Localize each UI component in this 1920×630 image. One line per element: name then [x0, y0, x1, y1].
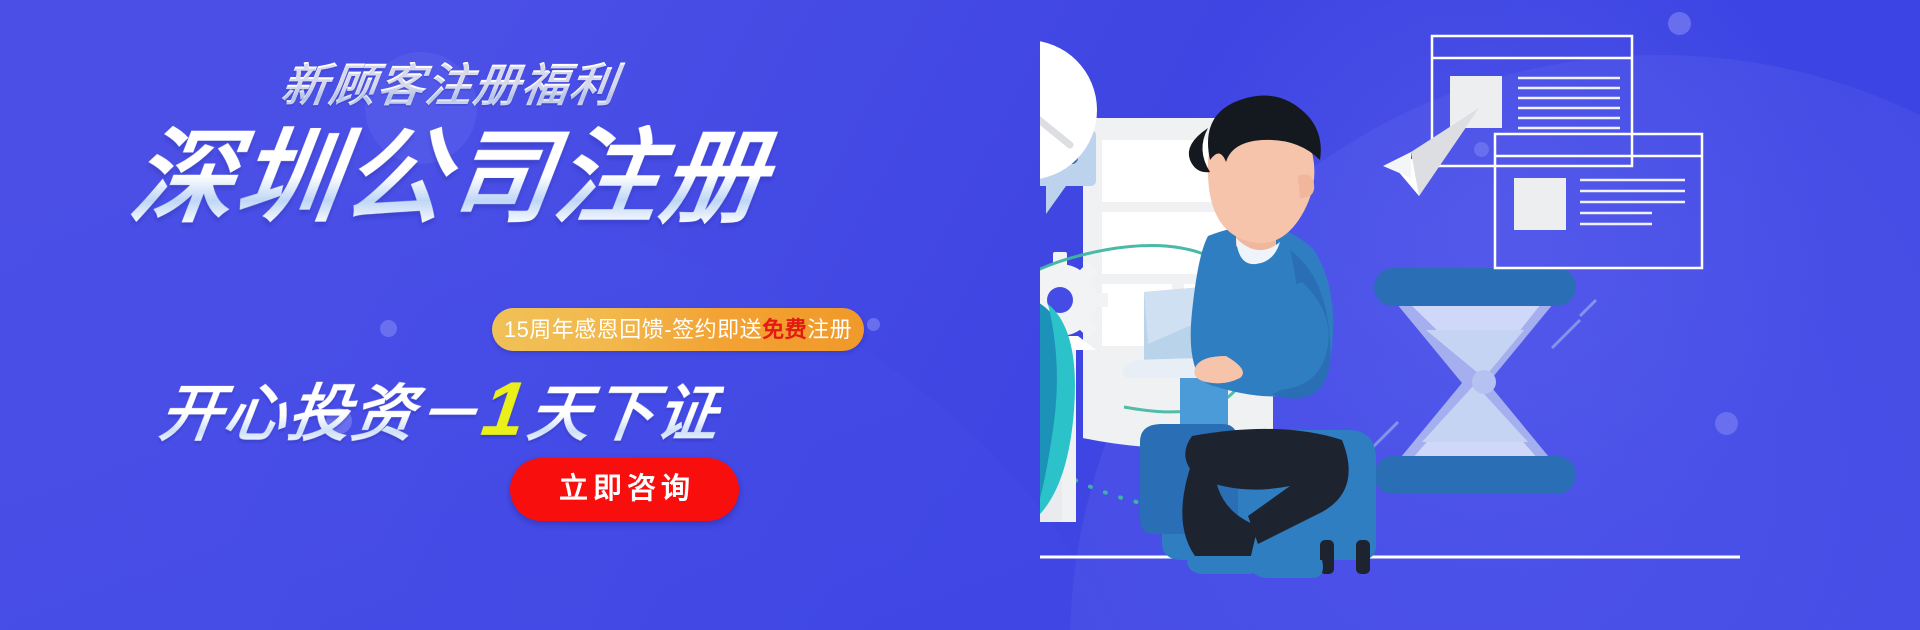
promo-highlight: 免费 [762, 317, 807, 342]
document-lines [1518, 78, 1620, 128]
promo-pill: 15周年感恩回馈-签约即送免费注册 [492, 308, 864, 351]
document-thumbnail [1450, 76, 1502, 128]
eyebrow-text: 新顾客注册福利 [0, 62, 903, 108]
consult-now-label: 立即咨询 [554, 475, 695, 504]
document-thumbnail [1514, 178, 1566, 230]
hero-illustration [1040, 0, 1920, 630]
promo-prefix: 15周年感恩回馈-签约即送 [504, 317, 762, 342]
banner-copy: 新顾客注册福利 深圳公司注册 15周年感恩回馈-签约即送免费注册 开心投资－1天… [0, 0, 960, 630]
hourglass [1374, 268, 1576, 494]
subline-before: 开心投资－ [155, 380, 485, 449]
subline-after: 天下证 [524, 380, 726, 449]
consult-now-button[interactable]: 立即咨询 [510, 458, 739, 521]
page-title: 深圳公司注册 [0, 125, 907, 230]
promo-banner: 新顾客注册福利 深圳公司注册 15周年感恩回馈-签约即送免费注册 开心投资－1天… [0, 0, 1920, 630]
promo-suffix: 注册 [807, 317, 852, 342]
subline: 开心投资－1天下证 [0, 372, 887, 448]
document-lines [1580, 180, 1685, 224]
promo-pill-text: 15周年感恩回馈-签约即送免费注册 [504, 319, 852, 341]
